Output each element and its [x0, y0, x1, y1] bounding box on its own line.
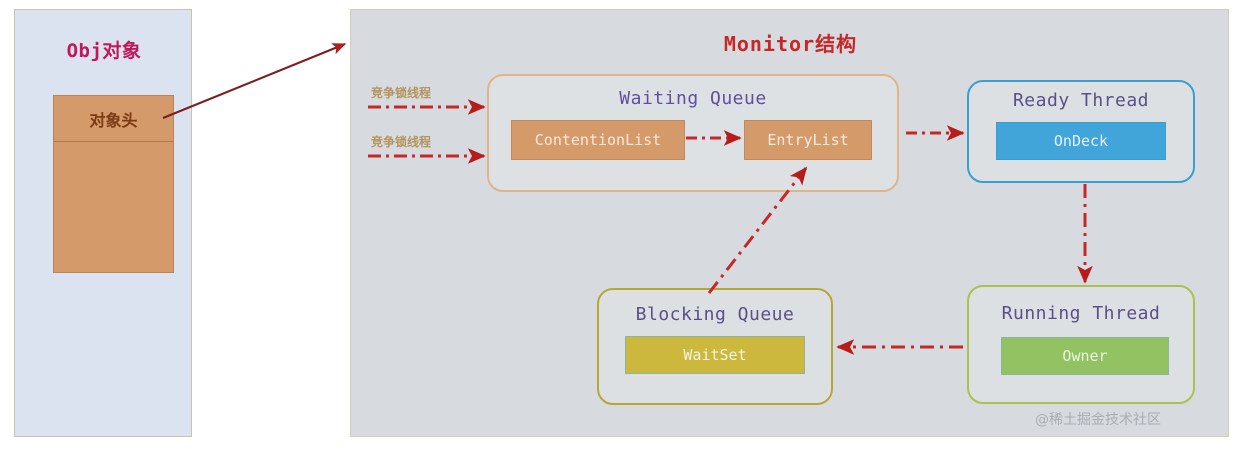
waiting-queue-title: Waiting Queue	[489, 88, 897, 109]
blocking-queue-title: Blocking Queue	[599, 304, 831, 325]
object-memory-box: 对象头	[53, 95, 174, 273]
monitor-panel-title: Monitor结构	[351, 28, 1230, 57]
contend-lock-thread-label-1: 竞争锁线程	[371, 84, 431, 101]
object-header-label: 对象头	[54, 96, 173, 142]
obj-panel-title: Obj对象	[15, 36, 193, 63]
contend-lock-thread-label-2: 竞争锁线程	[371, 133, 431, 150]
waitset-box: WaitSet	[625, 336, 805, 374]
ondeck-box: OnDeck	[996, 122, 1166, 160]
entry-list-box: EntryList	[744, 120, 872, 160]
owner-box: Owner	[1001, 337, 1169, 375]
diagram-canvas: Obj对象 对象头 Monitor结构 竞争锁线程 竞争锁线程 Waiting …	[0, 0, 1240, 449]
obj-panel: Obj对象 对象头	[14, 9, 192, 437]
running-thread-group: Running Thread Owner	[967, 285, 1195, 404]
watermark-text: @稀土掘金技术社区	[1035, 409, 1161, 429]
contention-list-box: ContentionList	[511, 120, 685, 160]
running-thread-title: Running Thread	[969, 303, 1193, 324]
ready-thread-group: Ready Thread OnDeck	[967, 80, 1195, 183]
waiting-queue-group: Waiting Queue ContentionList EntryList	[487, 74, 899, 192]
blocking-queue-group: Blocking Queue WaitSet	[597, 288, 833, 405]
ready-thread-title: Ready Thread	[969, 90, 1193, 111]
